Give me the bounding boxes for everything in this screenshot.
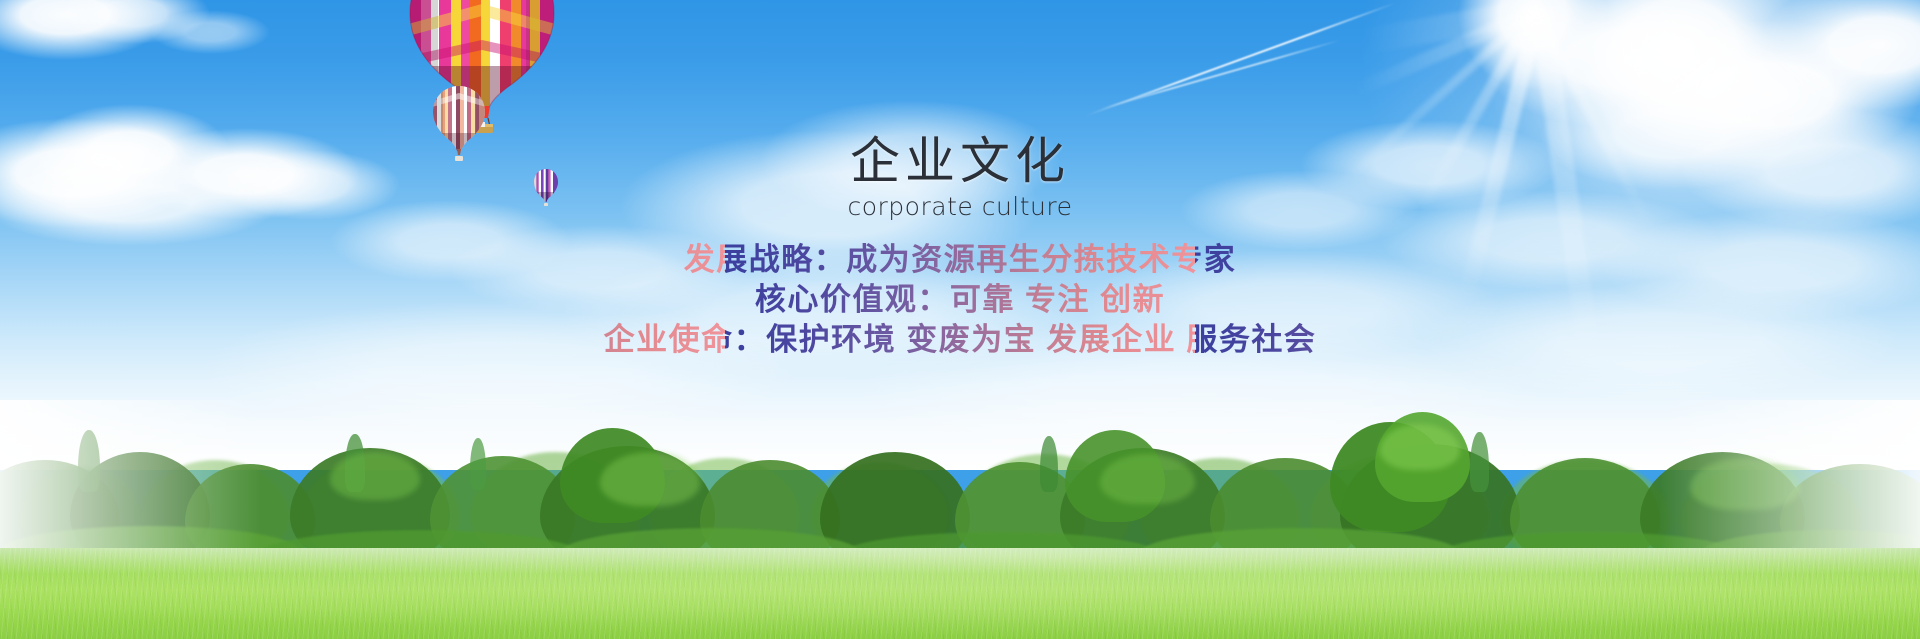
- slogan-row: 核心价值观：可靠 专注 创新: [0, 280, 1920, 320]
- slogan-row: 发展战略：成为资源再生分拣技术专家: [0, 240, 1920, 280]
- slogan-development-strategy: 发展战略：成为资源再生分拣技术专家: [0, 240, 1920, 280]
- slogan-corporate-mission: 企业使命：保护环境 变废为宝 发展企业 服务社会: [0, 320, 1920, 360]
- corporate-culture-banner: 企业文化 corporate culture 发展战略：成为资源再生分拣技术专家…: [0, 0, 1920, 639]
- page-subtitle: corporate culture: [0, 192, 1920, 222]
- slogan-list: 发展战略：成为资源再生分拣技术专家 核心价值观：可靠 专注 创新 企业使命：保护…: [0, 240, 1920, 360]
- page-title: 企业文化: [0, 132, 1920, 190]
- banner-text-block: 企业文化 corporate culture 发展战略：成为资源再生分拣技术专家…: [0, 132, 1920, 360]
- slogan-row: 企业使命：保护环境 变废为宝 发展企业 服务社会: [0, 320, 1920, 360]
- slogan-core-values: 核心价值观：可靠 专注 创新: [0, 280, 1920, 320]
- grass-field: [0, 548, 1920, 639]
